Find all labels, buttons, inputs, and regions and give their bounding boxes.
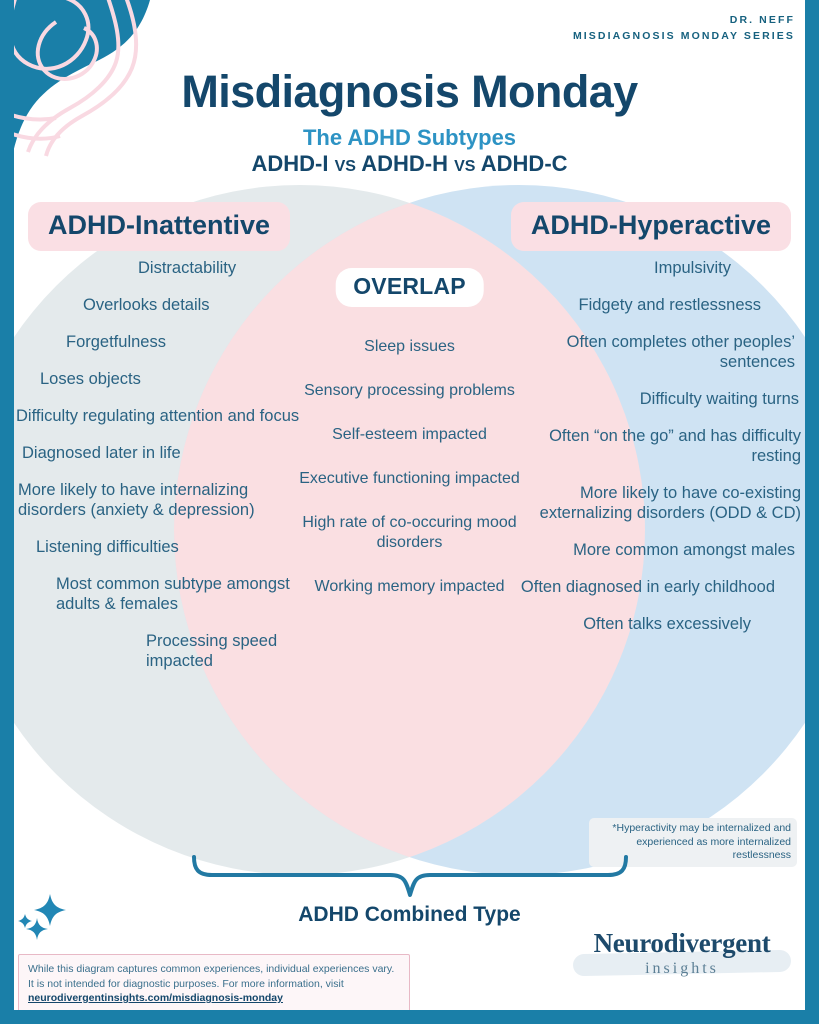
list-item: Most common subtype amongst adults & fem… [8,574,308,614]
list-item: Often completes other peoples’ sentences [499,332,809,372]
vs-separator-1: VS [335,158,356,175]
inattentive-symptom-list: Distractability Overlooks details Forget… [8,258,308,688]
vs-separator-2: VS [454,158,475,175]
list-item: Often “on the go” and has difficulty res… [499,426,809,466]
list-item: Listening difficulties [8,537,308,557]
list-item: Often diagnosed in early childhood [499,577,809,597]
list-item: Impulsivity [499,258,809,278]
overlap-symptom-list: Sleep issues Sensory processing problems… [297,337,522,621]
page-subtitle: The ADHD Subtypes [0,125,819,151]
list-item: Sensory processing problems [297,381,522,401]
frame-left-border [0,0,14,1024]
list-item: More common amongst males [499,540,809,560]
list-item: Distractability [8,258,308,278]
list-item: Difficulty waiting turns [499,389,809,409]
logo-secondary-text: insights [567,958,797,980]
sparkles-icon [16,892,76,948]
frame-bottom-border [0,1010,819,1024]
disclaimer-box: While this diagram captures common exper… [18,954,410,1014]
infographic-page: DR. NEFF MISDIAGNOSIS MONDAY SERIES Misd… [0,0,819,1024]
page-title: Misdiagnosis Monday [0,66,819,118]
frame-right-border [805,0,819,1024]
badge-overlap: OVERLAP [335,268,484,307]
subtype-comparison: ADHD-I VS ADHD-H VS ADHD-C [0,151,819,177]
disclaimer-text: While this diagram captures common exper… [28,963,394,990]
combined-type-label: ADHD Combined Type [0,903,819,927]
list-item: Executive functioning impacted [297,469,522,489]
list-item: Difficulty regulating attention and focu… [8,406,308,426]
list-item: Sleep issues [297,337,522,357]
disclaimer-link[interactable]: neurodivergentinsights.com/misdiagnosis-… [28,992,283,1004]
combined-type-brace [190,855,630,905]
brand-logo: Neurodivergent insights [567,928,797,992]
list-item: Often talks excessively [499,614,809,634]
kicker-line-2: MISDIAGNOSIS MONDAY SERIES [573,28,795,44]
badge-adhd-hyperactive: ADHD-Hyperactive [511,202,791,251]
kicker-line-1: DR. NEFF [573,12,795,28]
list-item: Processing speed impacted [8,631,308,671]
list-item: Diagnosed later in life [8,443,308,463]
logo-primary-text: Neurodivergent [567,928,797,958]
hyperactive-symptom-list: Impulsivity Fidgety and restlessness Oft… [499,258,809,651]
list-item: Self-esteem impacted [297,425,522,445]
list-item: More likely to have internalizing disord… [8,480,308,520]
compare-a: ADHD-I [251,151,328,176]
compare-c: ADHD-C [481,151,568,176]
list-item: Overlooks details [8,295,308,315]
badge-adhd-inattentive: ADHD-Inattentive [28,202,290,251]
kicker: DR. NEFF MISDIAGNOSIS MONDAY SERIES [573,12,795,44]
compare-b: ADHD-H [361,151,448,176]
list-item: Loses objects [8,369,308,389]
list-item: Forgetfulness [8,332,308,352]
list-item: Fidgety and restlessness [499,295,809,315]
list-item: Working memory impacted [297,577,522,597]
list-item: More likely to have co-existing external… [499,483,809,523]
list-item: High rate of co-occuring mood disorders [297,513,522,553]
